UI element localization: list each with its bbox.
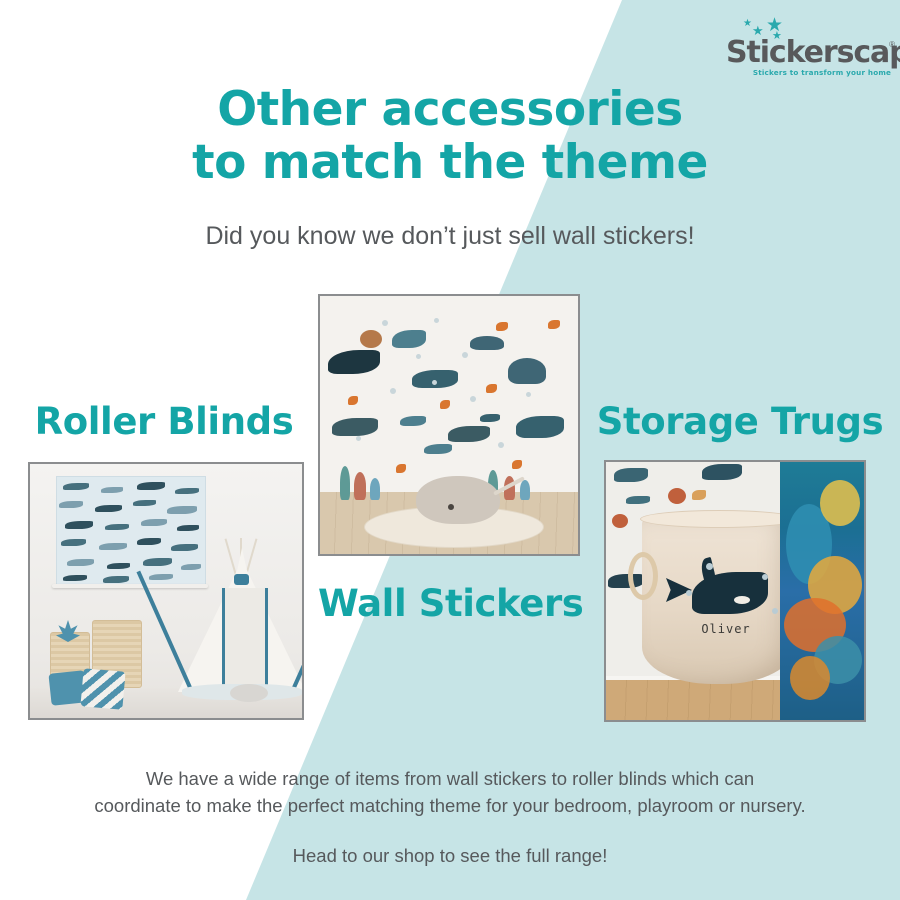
grey-cushion — [230, 684, 268, 702]
product-label-storage-trugs: Storage Trugs — [580, 400, 900, 443]
footer-description: We have a wide range of items from wall … — [0, 766, 900, 820]
product-label-wall-stickers: Wall Stickers — [318, 582, 580, 625]
small-fish-sticker — [480, 414, 500, 422]
clownfish-sticker — [548, 320, 560, 329]
narwhal-plush-toy — [416, 476, 500, 524]
product-label-roller-blinds: Roller Blinds — [0, 400, 328, 443]
dolphin-sticker — [400, 416, 426, 426]
footer-line-2: coordinate to make the perfect matching … — [0, 793, 900, 820]
wall-stickers-scene — [320, 296, 578, 554]
coral-sticker — [354, 472, 366, 500]
headline-line-2: to match the theme — [0, 137, 900, 190]
footer-line-1: We have a wide range of items from wall … — [0, 766, 900, 793]
product-photo-wall-stickers[interactable] — [318, 294, 580, 556]
personalised-name: Oliver — [678, 622, 774, 636]
stickerscape-logo[interactable]: ★ ★ ★ ★ Stickerscape ® Stickers to trans… — [726, 18, 892, 80]
whale-sticker — [516, 416, 564, 438]
chevron-cushion — [80, 668, 125, 710]
shark-sticker — [448, 426, 490, 442]
dolphin-sticker — [392, 330, 426, 348]
whale-sticker — [412, 370, 458, 388]
orca-print-eye-patch — [734, 596, 750, 604]
logo-tagline: Stickers to transform your home — [752, 68, 892, 77]
dolphin-sticker — [424, 444, 452, 454]
product-photo-roller-blinds[interactable] — [28, 462, 304, 720]
whale-sticker — [702, 464, 742, 480]
manta-ray-sticker — [470, 336, 504, 350]
star-icon: ★ — [743, 19, 752, 29]
clownfish-sticker — [512, 460, 522, 469]
storage-trug-scene: Oliver — [606, 462, 864, 720]
manta-ray-sticker — [508, 358, 546, 384]
clownfish-sticker — [440, 400, 450, 409]
fish-sticker — [692, 490, 706, 500]
seaweed-sticker — [340, 466, 350, 500]
clownfish-sticker — [348, 396, 358, 405]
crab-sticker — [668, 488, 686, 504]
crab-sticker — [612, 514, 628, 528]
clownfish-sticker — [396, 464, 406, 473]
teepee-tent — [178, 542, 302, 692]
turtle-sticker — [360, 330, 382, 348]
page-title: Other accessories to match the theme — [0, 84, 900, 189]
whale-sticker — [614, 468, 648, 482]
footer-call-to-action: Head to our shop to see the full range! — [0, 845, 900, 867]
coral-sticker — [370, 478, 380, 500]
shark-sticker — [332, 418, 378, 436]
product-photo-storage-trug[interactable]: Oliver — [604, 460, 866, 722]
fish-sticker — [626, 496, 650, 504]
headline-line-1: Other accessories — [0, 84, 900, 137]
subheading: Did you know we don’t just sell wall sti… — [0, 222, 900, 251]
clownfish-sticker — [496, 322, 508, 331]
promotional-poster: ★ ★ ★ ★ Stickerscape ® Stickers to trans… — [0, 0, 900, 900]
logo-wordmark: Stickerscape — [726, 35, 892, 70]
clownfish-sticker — [486, 384, 497, 393]
coral-sticker — [520, 480, 530, 500]
narwhal-eye — [448, 504, 454, 510]
registered-trademark-symbol: ® — [889, 40, 895, 49]
roller-blinds-scene — [30, 464, 302, 718]
trug-rim — [640, 510, 798, 528]
underwater-curtain — [780, 462, 864, 720]
rope-handle — [628, 552, 658, 600]
